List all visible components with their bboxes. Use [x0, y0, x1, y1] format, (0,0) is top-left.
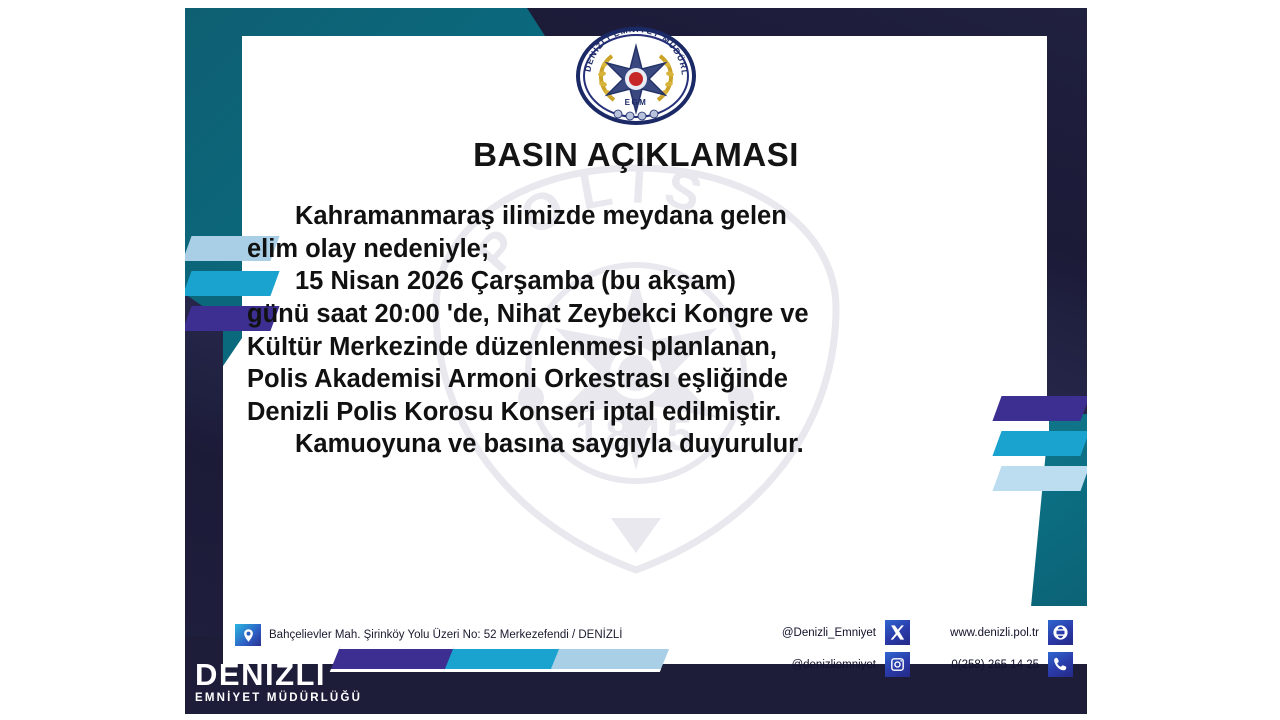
body-line: elim olay nedeniyle;: [247, 233, 1025, 266]
website-label: www.denizli.pol.tr: [919, 627, 1039, 639]
location-pin-icon: [235, 624, 261, 646]
stripe-light-blue: [992, 466, 1087, 491]
chevron-light-blue: [550, 646, 671, 672]
phone-label: 0(258) 265 14 25: [919, 659, 1039, 671]
phone-icon[interactable]: [1048, 652, 1073, 677]
address-block: Bahçelievler Mah. Şirinköy Yolu Üzeri No…: [235, 624, 622, 646]
logo-sub-text: EMNİYET MÜDÜRLÜĞÜ: [195, 690, 362, 706]
globe-icon[interactable]: [1048, 620, 1073, 645]
body-line: Kültür Merkezinde düzenlenmesi planlanan…: [247, 331, 1025, 364]
page-title: BASIN AÇIKLAMASI: [247, 136, 1025, 174]
instagram-handle-label: @denizliemniyet: [758, 659, 876, 671]
contact-row: @Denizli_Emniyet www.denizli.pol.tr: [758, 620, 1073, 645]
contact-row: @denizliemniyet 0(258) 265 14 25: [758, 652, 1073, 677]
press-release-poster: POLİS 1845 DENİZLİ EMNİYET MÜDÜRLÜĞÜ: [185, 8, 1087, 714]
body-line: Kahramanmaraş ilimizde meydana gelen: [247, 200, 1025, 233]
announcement-content: BASIN AÇIKLAMASI Kahramanmaraş ilimizde …: [247, 136, 1025, 461]
emblem-center-label: EGM: [625, 98, 648, 107]
chevron-cyan: [444, 646, 565, 672]
announcement-body: Kahramanmaraş ilimizde meydana gelen eli…: [247, 200, 1025, 461]
body-line: Kamuoyuna ve basına saygıyla duyurulur.: [247, 428, 1025, 461]
body-line: 15 Nisan 2026 Çarşamba (bu akşam): [247, 265, 1025, 298]
x-handle-label: @Denizli_Emniyet: [758, 627, 876, 639]
x-twitter-icon[interactable]: [885, 620, 910, 645]
chevron-purple: [330, 646, 459, 672]
body-line: Denizli Polis Korosu Konseri iptal edilm…: [247, 396, 1025, 429]
body-line: Polis Akademisi Armoni Orkestrası eşliği…: [247, 363, 1025, 396]
address-text: Bahçelievler Mah. Şirinköy Yolu Üzeri No…: [269, 629, 622, 641]
denizli-police-emblem: DENİZLİ EMNİYET MÜDÜRLÜĞÜ EGM: [574, 22, 698, 126]
body-line: günü saat 20:00 'de, Nihat Zeybekci Kong…: [247, 298, 1025, 331]
instagram-icon[interactable]: [885, 652, 910, 677]
contact-block: @Denizli_Emniyet www.denizli.pol.tr @den…: [758, 620, 1073, 677]
decorative-chevron-stripes: [335, 646, 665, 672]
